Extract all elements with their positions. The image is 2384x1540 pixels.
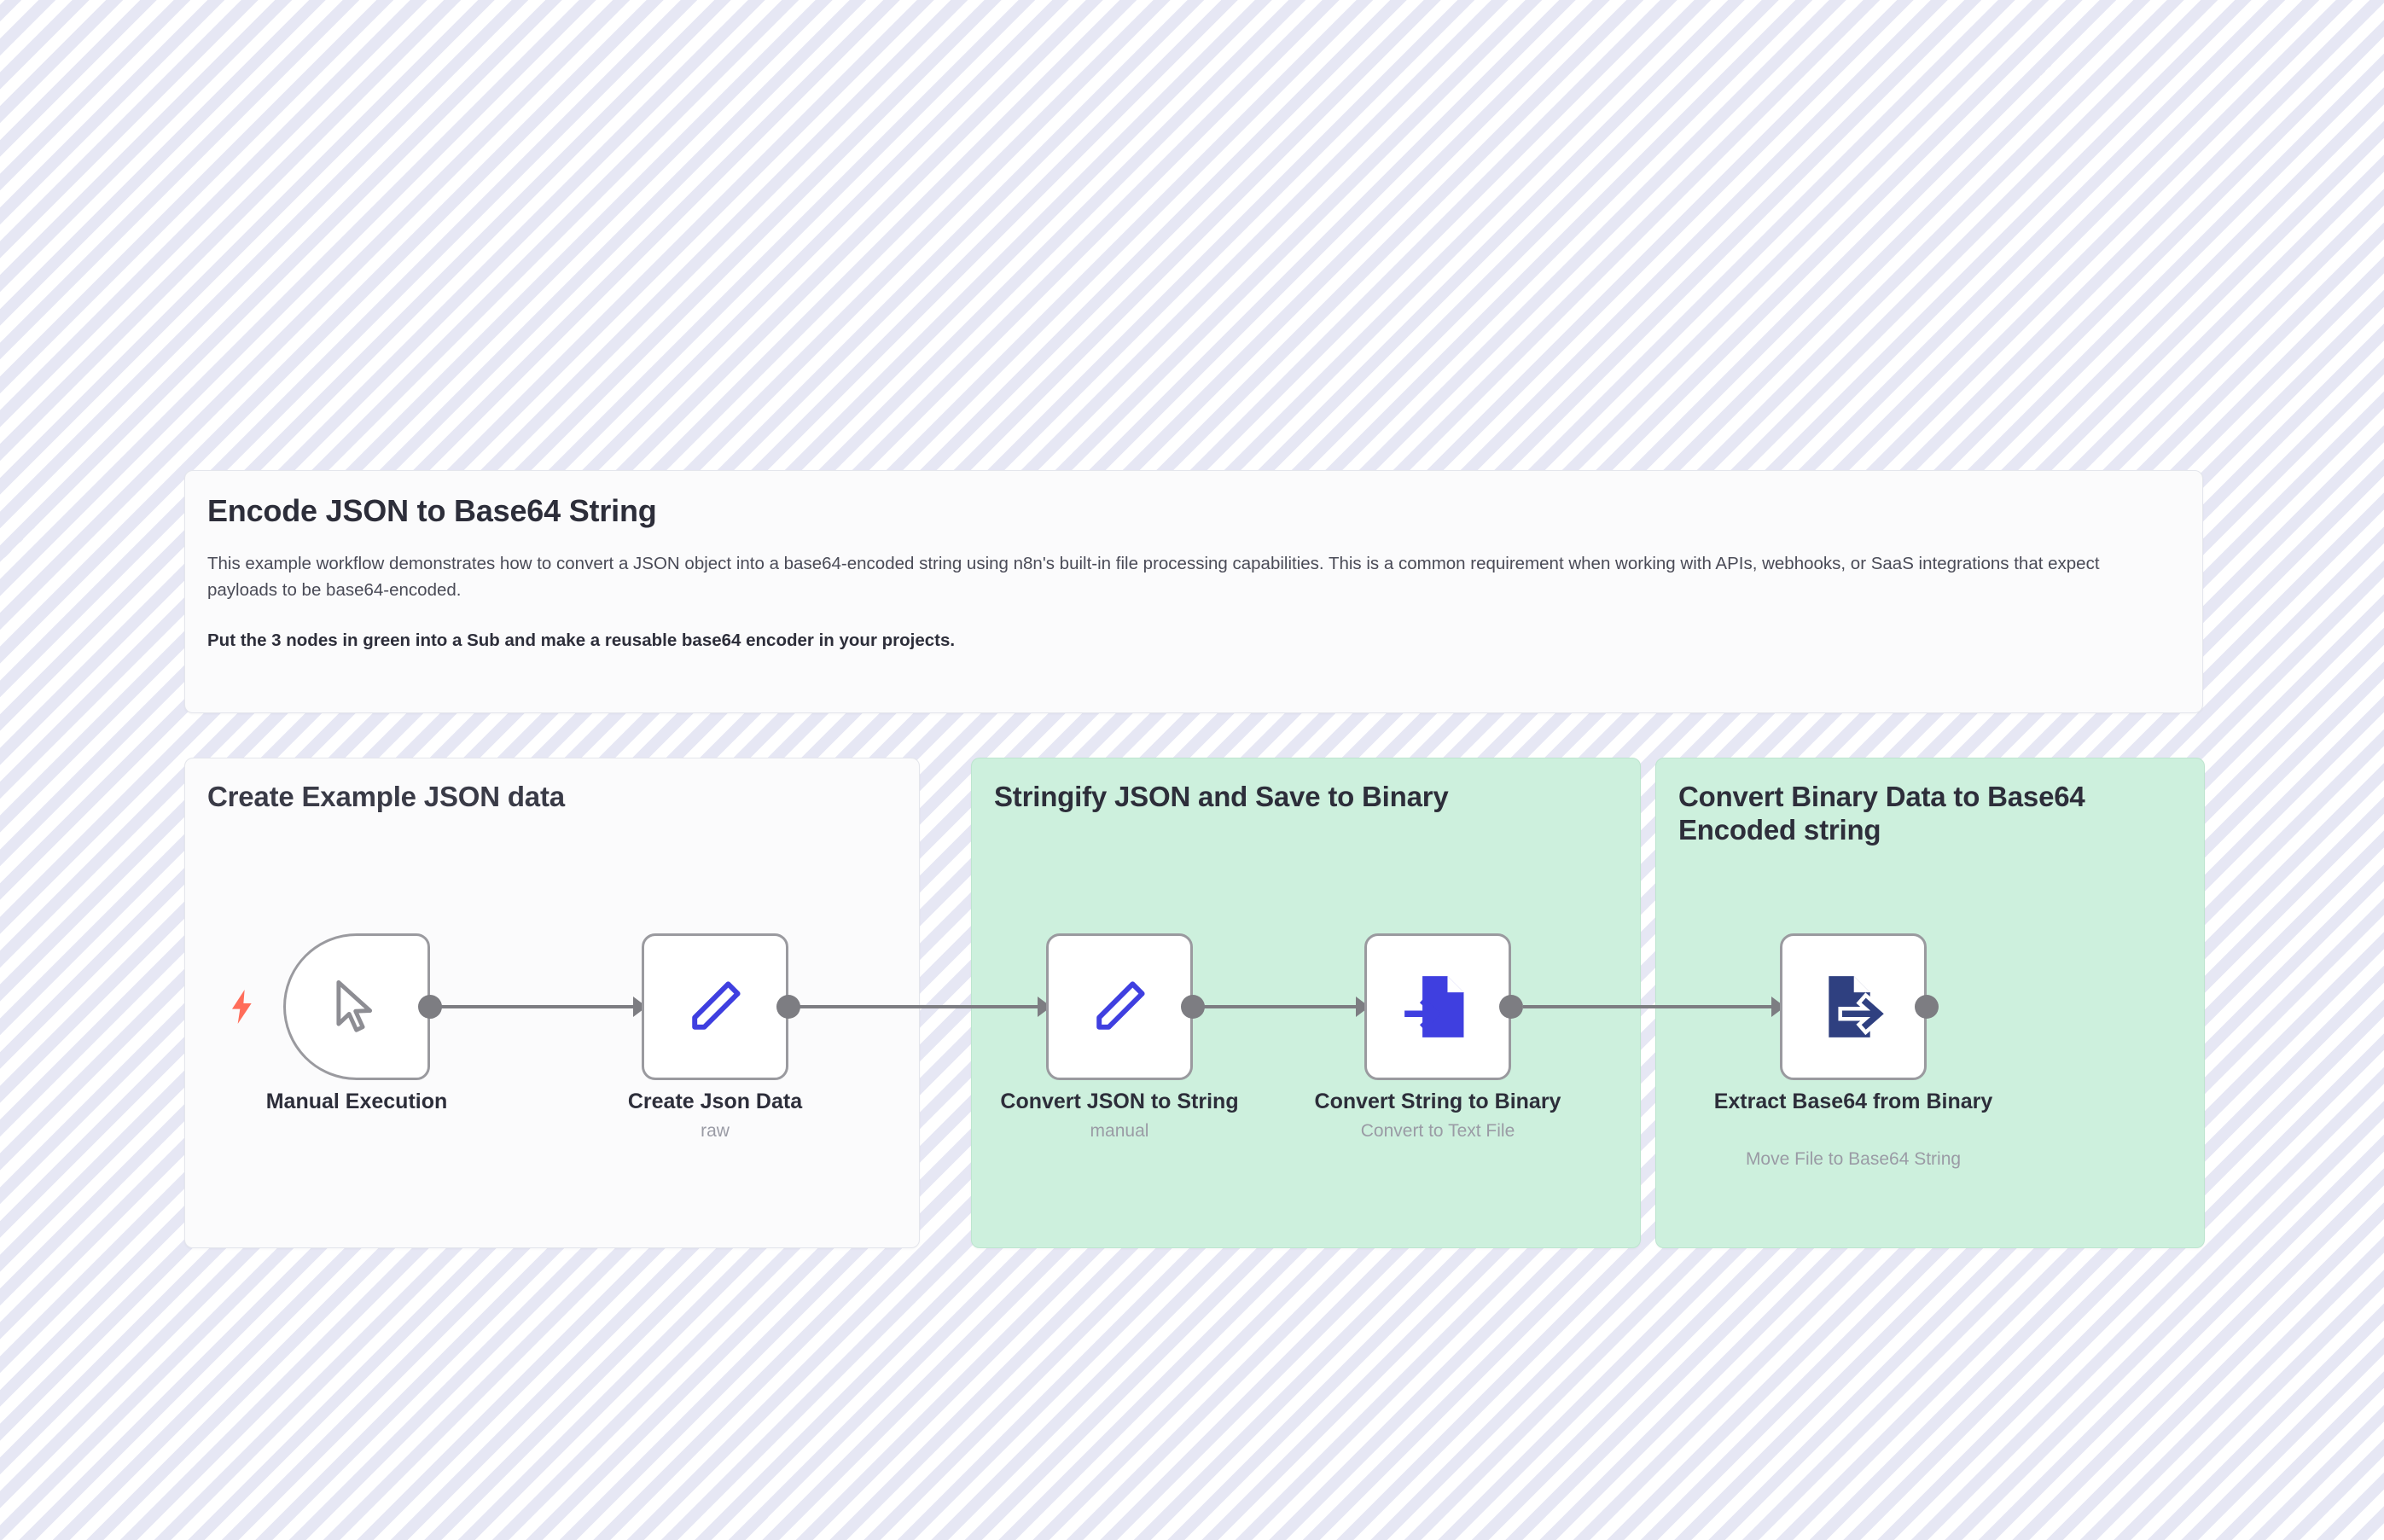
output-connector-dot[interactable] [1181,995,1205,1019]
group-title: Stringify JSON and Save to Binary [994,781,1618,814]
output-connector-dot[interactable] [776,995,800,1019]
sticky-note-header[interactable]: Encode JSON to Base64 String This exampl… [184,470,2203,713]
node-box[interactable] [1780,933,1927,1080]
file-export-icon [1817,970,1890,1043]
node-subtitle: Move File to Base64 String [1683,1148,2024,1170]
lightning-bolt-icon [229,990,256,1024]
node-box[interactable] [642,933,788,1080]
cursor-pointer-icon [323,973,390,1040]
file-import-icon [1401,970,1474,1043]
node-box[interactable] [1046,933,1193,1080]
output-connector-dot[interactable] [418,995,442,1019]
group-title: Convert Binary Data to Base64 Encoded st… [1678,781,2182,847]
node-label: Extract Base64 from Binary [1683,1089,2024,1114]
pencil-edit-icon [1084,971,1155,1043]
page-title: Encode JSON to Base64 String [207,493,2180,529]
node-box[interactable] [283,933,430,1080]
node-label: Create Json Data [544,1089,886,1114]
header-description: This example workflow demonstrates how t… [207,551,2157,604]
pencil-edit-icon [679,971,751,1043]
output-connector-dot[interactable] [1499,995,1523,1019]
output-connector-dot[interactable] [1915,995,1939,1019]
header-callout: Put the 3 nodes in green into a Sub and … [207,628,2180,654]
workflow-canvas[interactable]: Encode JSON to Base64 String This exampl… [0,0,2384,1540]
node-subtitle: raw [544,1120,886,1142]
node-label: Convert JSON to String [949,1089,1290,1114]
node-subtitle: manual [949,1120,1290,1142]
group-title: Create Example JSON data [207,781,897,814]
node-label: Manual Execution [186,1089,527,1114]
node-label: Convert String to Binary [1267,1089,1608,1114]
node-subtitle: Convert to Text File [1267,1120,1608,1142]
node-box[interactable] [1364,933,1511,1080]
